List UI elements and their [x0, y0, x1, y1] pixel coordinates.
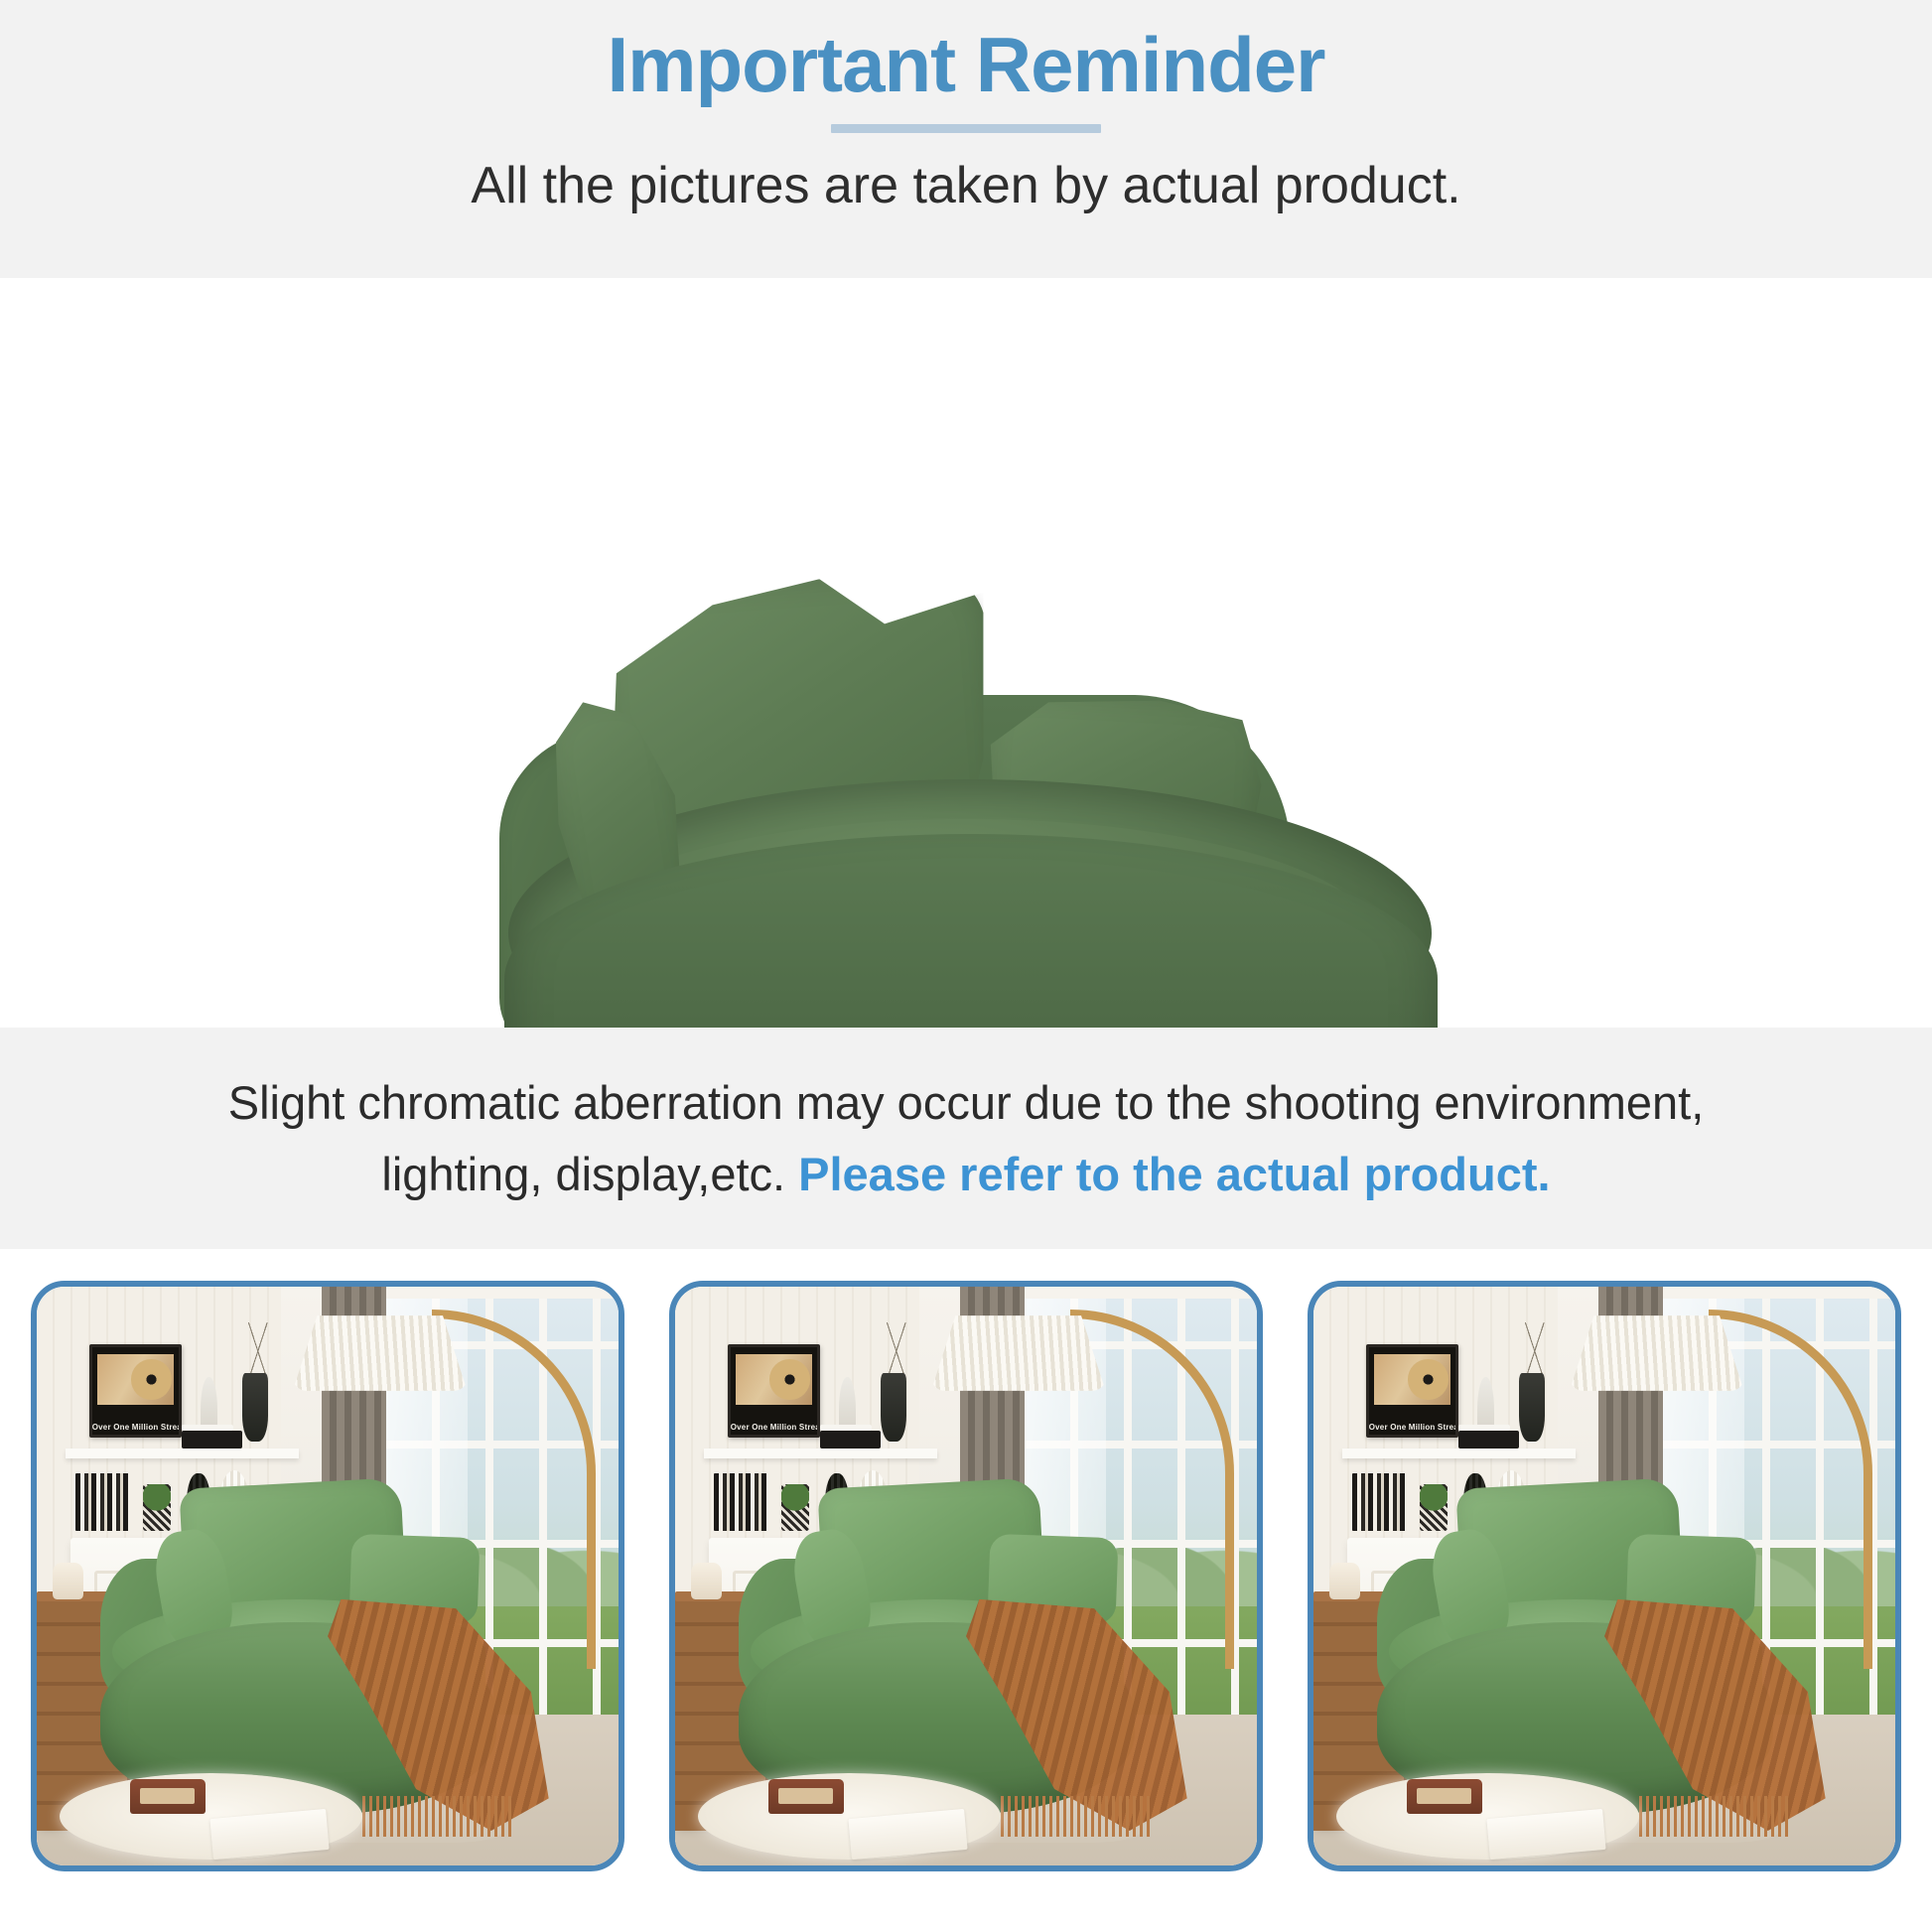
dark-glass-vase — [242, 1373, 268, 1442]
stacked-books-top — [820, 1431, 881, 1449]
note-line-2-accent: Please refer to the actual product. — [798, 1148, 1550, 1200]
note-line-2-plain: lighting, display,etc. — [381, 1148, 798, 1200]
room-scene: Over One Million Streams — [1313, 1287, 1895, 1865]
poster-caption: Over One Million Streams — [731, 1423, 818, 1432]
cactus-planter — [1420, 1484, 1448, 1531]
shelf-board — [704, 1449, 936, 1458]
candle-decor — [691, 1563, 722, 1599]
gold-record-disc — [131, 1359, 171, 1399]
throw-fringe — [1639, 1796, 1790, 1837]
thumbnail-3[interactable]: Over One Million Streams — [1308, 1281, 1901, 1871]
cactus-planter — [781, 1484, 809, 1531]
page-title: Important Reminder — [607, 22, 1324, 108]
dark-glass-vase — [881, 1373, 906, 1442]
product-listing-page: Important Reminder All the pictures are … — [0, 0, 1932, 1932]
chromatic-aberration-note-band: Slight chromatic aberration may occur du… — [0, 1028, 1932, 1249]
pleated-lamp-shade — [931, 1315, 1106, 1391]
book-row — [75, 1473, 131, 1531]
book-row — [714, 1473, 769, 1531]
gold-record-disc — [1408, 1359, 1448, 1399]
framed-gold-record-poster: Over One Million Streams — [1366, 1344, 1459, 1438]
dried-branches — [238, 1322, 280, 1380]
note-line-2: lighting, display,etc. Please refer to t… — [381, 1139, 1550, 1209]
gold-record-disc — [769, 1359, 809, 1399]
vintage-radio — [130, 1779, 206, 1814]
throw-fringe — [1001, 1796, 1152, 1837]
vintage-radio — [1407, 1779, 1482, 1814]
thumbnail-2[interactable]: Over One Million Streams — [669, 1281, 1263, 1871]
pleated-lamp-shade — [1570, 1315, 1744, 1391]
lifestyle-thumbnail-row: Over One Million Streams — [0, 1281, 1932, 1876]
candle-decor — [53, 1563, 83, 1599]
throw-fringe — [362, 1796, 513, 1837]
note-line-1: Slight chromatic aberration may occur du… — [228, 1067, 1705, 1138]
header-subtitle: All the pictures are taken by actual pro… — [471, 157, 1460, 216]
dark-glass-vase — [1519, 1373, 1545, 1442]
vintage-radio — [768, 1779, 844, 1814]
poster-caption: Over One Million Streams — [1369, 1423, 1456, 1432]
cactus-planter — [143, 1484, 171, 1531]
framed-gold-record-poster: Over One Million Streams — [89, 1344, 183, 1438]
room-scene: Over One Million Streams — [675, 1287, 1257, 1865]
book-row — [1352, 1473, 1408, 1531]
shelf-board — [1342, 1449, 1575, 1458]
framed-gold-record-poster: Over One Million Streams — [728, 1344, 821, 1438]
dried-branches — [877, 1322, 918, 1380]
stacked-books-top — [182, 1431, 242, 1449]
candle-decor — [1329, 1563, 1360, 1599]
stacked-books-top — [1458, 1431, 1519, 1449]
thumbnail-1[interactable]: Over One Million Streams — [31, 1281, 624, 1871]
hero-product-band — [0, 278, 1932, 1028]
product-image-swivel-chair — [0, 278, 1932, 1028]
shelf-board — [66, 1449, 298, 1458]
reminder-header-band: Important Reminder All the pictures are … — [0, 0, 1932, 278]
dried-branches — [1515, 1322, 1557, 1380]
room-scene: Over One Million Streams — [37, 1287, 619, 1865]
pleated-lamp-shade — [293, 1315, 468, 1391]
poster-caption: Over One Million Streams — [92, 1423, 180, 1432]
title-divider — [831, 124, 1101, 133]
